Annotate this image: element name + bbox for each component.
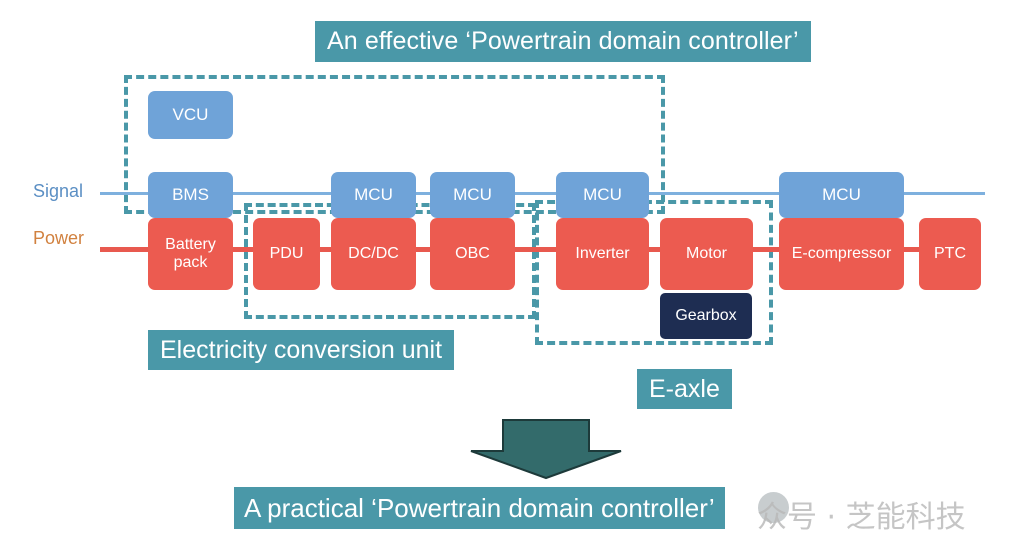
block-ptc[interactable]: PTC xyxy=(919,218,981,290)
block-inverter[interactable]: Inverter xyxy=(556,218,649,290)
block-vcu[interactable]: VCU xyxy=(148,91,233,139)
power-label: Power xyxy=(33,228,84,249)
block-obc[interactable]: OBC xyxy=(430,218,515,290)
block-pdu[interactable]: PDU xyxy=(253,218,320,290)
eaxle-banner: E-axle xyxy=(637,369,732,409)
block-gearbox[interactable]: Gearbox xyxy=(660,293,752,339)
block-mcu-dcdc[interactable]: MCU xyxy=(331,172,416,218)
block-battery-pack[interactable]: Battery pack xyxy=(148,218,233,290)
block-mcu-inverter[interactable]: MCU xyxy=(556,172,649,218)
block-ecompressor[interactable]: E-compressor xyxy=(779,218,904,290)
watermark-text: 众号 · 芝能科技 xyxy=(757,492,966,536)
down-arrow-icon xyxy=(470,418,622,480)
electricity-conversion-unit-banner: Electricity conversion unit xyxy=(148,330,454,370)
block-motor[interactable]: Motor xyxy=(660,218,753,290)
block-mcu-obc[interactable]: MCU xyxy=(430,172,515,218)
title-banner: An effective ‘Powertrain domain controll… xyxy=(315,21,811,62)
block-bms[interactable]: BMS xyxy=(148,172,233,218)
slide-canvas: Signal Power VCU BMS MCU MCU MCU MCU Bat… xyxy=(0,0,1024,546)
bottom-banner: A practical ‘Powertrain domain controlle… xyxy=(234,487,725,529)
signal-label: Signal xyxy=(33,181,83,202)
block-mcu-ecompressor[interactable]: MCU xyxy=(779,172,904,218)
block-dcdc[interactable]: DC/DC xyxy=(331,218,416,290)
watermark-logo-icon xyxy=(758,492,789,523)
